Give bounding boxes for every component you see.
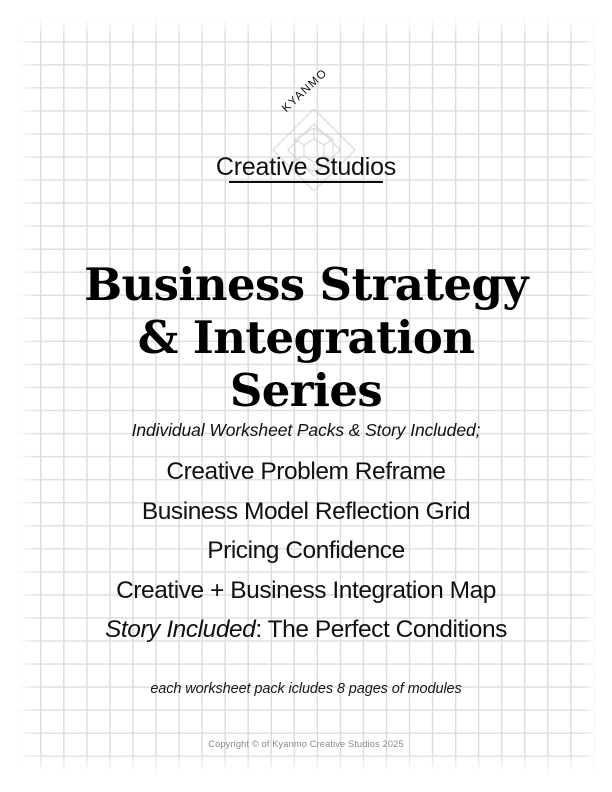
page-title-line-3: Series [0, 364, 612, 417]
diamond-cube-logo-icon [266, 102, 362, 198]
poster-page: KYANMO Creative Studios Business Strateg… [0, 0, 612, 792]
pack-title: Creative Problem Reframe [166, 458, 445, 485]
brand-name: Creative Studios [0, 152, 612, 182]
list-item: Creative + Business Integration Map [0, 571, 612, 611]
page-title: Business Strategy & Integration Series [0, 258, 612, 417]
list-item: Pricing Confidence [0, 531, 612, 571]
list-item-story: Story Included: The Perfect Conditions [0, 610, 612, 650]
poster-content: KYANMO Creative Studios Business Strateg… [0, 0, 612, 792]
list-item: Business Model Reflection Grid [0, 492, 612, 532]
brand-underline-rule [229, 181, 383, 183]
story-title: : The Perfect Conditions [255, 616, 507, 643]
pack-title: Creative + Business Integration Map [116, 577, 496, 604]
copyright-text: Copyright © of Kyanmo Creative Studios 2… [0, 738, 612, 751]
story-label: Story Included [105, 616, 255, 643]
lead-in-text: Individual Worksheet Packs & Story Inclu… [0, 419, 612, 441]
pack-title: Pricing Confidence [207, 537, 405, 564]
page-title-line-1: Business Strategy [0, 258, 612, 311]
footnote-text: each worksheet pack icludes 8 pages of m… [0, 680, 612, 699]
brand-block: KYANMO Creative Studios [0, 100, 612, 204]
worksheet-pack-list: Creative Problem Reframe Business Model … [0, 452, 612, 650]
list-item: Creative Problem Reframe [0, 452, 612, 492]
pack-title: Business Model Reflection Grid [142, 498, 470, 525]
page-title-line-2: & Integration [0, 311, 612, 364]
